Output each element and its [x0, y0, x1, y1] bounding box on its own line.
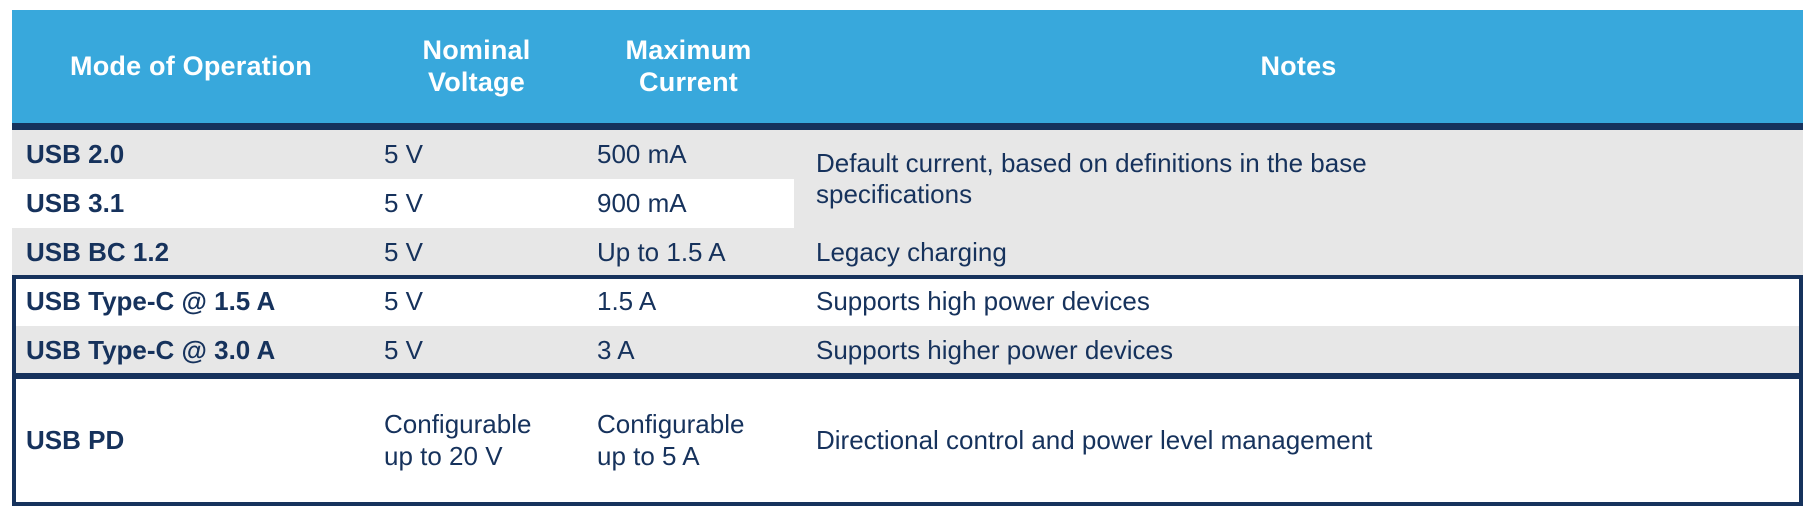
cell-notes-usbpd: Directional control and power level mana…	[794, 375, 1803, 506]
column-header-maximum-current-line2: Current	[639, 67, 738, 97]
column-header-maximum-current-label: Maximum Current	[626, 35, 752, 99]
cell-current-usb20: 500 mA	[583, 130, 794, 179]
cell-voltage-value: 5 V	[384, 237, 423, 268]
table-header-row: Mode of Operation Nominal Voltage Maximu…	[12, 10, 1803, 123]
column-header-nominal-voltage-line2: Voltage	[428, 67, 525, 97]
table-row: USB Type-C @ 1.5 A	[12, 277, 370, 326]
cell-notes-typec15: Supports high power devices	[794, 277, 1803, 326]
cell-notes-typec30: Supports higher power devices	[794, 326, 1803, 375]
table-body: USB 2.0 5 V 500 mA USB 3.1 5 V 900 mA De…	[12, 130, 1803, 506]
cell-notes-usbbc12: Legacy charging	[794, 228, 1803, 277]
table-row: USB 3.1	[12, 179, 370, 228]
column-header-notes: Notes	[794, 10, 1803, 123]
cell-current-usb31: 900 mA	[583, 179, 794, 228]
header-bottom-rule	[12, 123, 1803, 130]
cell-current-value: Up to 1.5 A	[597, 237, 726, 268]
column-header-nominal-voltage-line1: Nominal	[423, 35, 531, 65]
cell-mode: USB Type-C @ 1.5 A	[26, 286, 275, 317]
column-header-maximum-current: Maximum Current	[583, 10, 794, 123]
cell-voltage-value: Configurable up to 20 V	[384, 409, 531, 471]
cell-voltage-usb31: 5 V	[370, 179, 583, 228]
cell-notes-merged-line2: specifications	[816, 179, 972, 209]
cell-current-value: 900 mA	[597, 188, 687, 219]
cell-voltage-usbpd: Configurable up to 20 V	[370, 375, 583, 506]
cell-current-value: 3 A	[597, 335, 635, 366]
column-header-nominal-voltage-label: Nominal Voltage	[423, 35, 531, 99]
cell-mode: USB 2.0	[26, 139, 124, 170]
usb-power-modes-table: Mode of Operation Nominal Voltage Maximu…	[12, 10, 1803, 506]
column-header-nominal-voltage: Nominal Voltage	[370, 10, 583, 123]
cell-voltage-line2: up to 20 V	[384, 441, 503, 471]
table-row: USB 2.0	[12, 130, 370, 179]
cell-voltage-usbbc12: 5 V	[370, 228, 583, 277]
column-header-notes-label: Notes	[1260, 51, 1336, 83]
column-header-maximum-current-line1: Maximum	[626, 35, 752, 65]
cell-voltage-line1: Configurable	[384, 409, 531, 439]
table-row: USB BC 1.2	[12, 228, 370, 277]
cell-notes-merged: Default current, based on definitions in…	[794, 130, 1803, 228]
table-row: USB PD	[12, 375, 370, 506]
cell-voltage-typec30: 5 V	[370, 326, 583, 375]
cell-current-usbpd: Configurable up to 5 A	[583, 375, 794, 506]
cell-notes-value: Supports high power devices	[816, 286, 1150, 317]
cell-voltage-value: 5 V	[384, 188, 423, 219]
cell-notes-value: Legacy charging	[816, 237, 1007, 268]
cell-voltage-usb20: 5 V	[370, 130, 583, 179]
column-header-mode-of-operation: Mode of Operation	[12, 10, 370, 123]
cell-voltage-typec15: 5 V	[370, 277, 583, 326]
cell-voltage-value: 5 V	[384, 286, 423, 317]
cell-mode: USB 3.1	[26, 188, 124, 219]
table-row: USB Type-C @ 3.0 A	[12, 326, 370, 375]
cell-mode: USB PD	[26, 425, 124, 456]
cell-current-typec15: 1.5 A	[583, 277, 794, 326]
cell-notes-merged-line1: Default current, based on definitions in…	[816, 148, 1367, 178]
cell-current-typec30: 3 A	[583, 326, 794, 375]
cell-notes-merged-text: Default current, based on definitions in…	[816, 148, 1367, 210]
cell-current-line1: Configurable	[597, 409, 744, 439]
cell-mode: USB BC 1.2	[26, 237, 169, 268]
cell-current-usbbc12: Up to 1.5 A	[583, 228, 794, 277]
cell-voltage-value: 5 V	[384, 335, 423, 366]
cell-notes-value: Supports higher power devices	[816, 335, 1173, 366]
cell-voltage-value: 5 V	[384, 139, 423, 170]
cell-current-line2: up to 5 A	[597, 441, 700, 471]
cell-mode: USB Type-C @ 3.0 A	[26, 335, 275, 366]
cell-current-value: 500 mA	[597, 139, 687, 170]
cell-current-value: Configurable up to 5 A	[597, 409, 744, 471]
cell-current-value: 1.5 A	[597, 286, 656, 317]
column-header-mode-of-operation-label: Mode of Operation	[70, 51, 312, 83]
cell-notes-value: Directional control and power level mana…	[816, 425, 1372, 456]
